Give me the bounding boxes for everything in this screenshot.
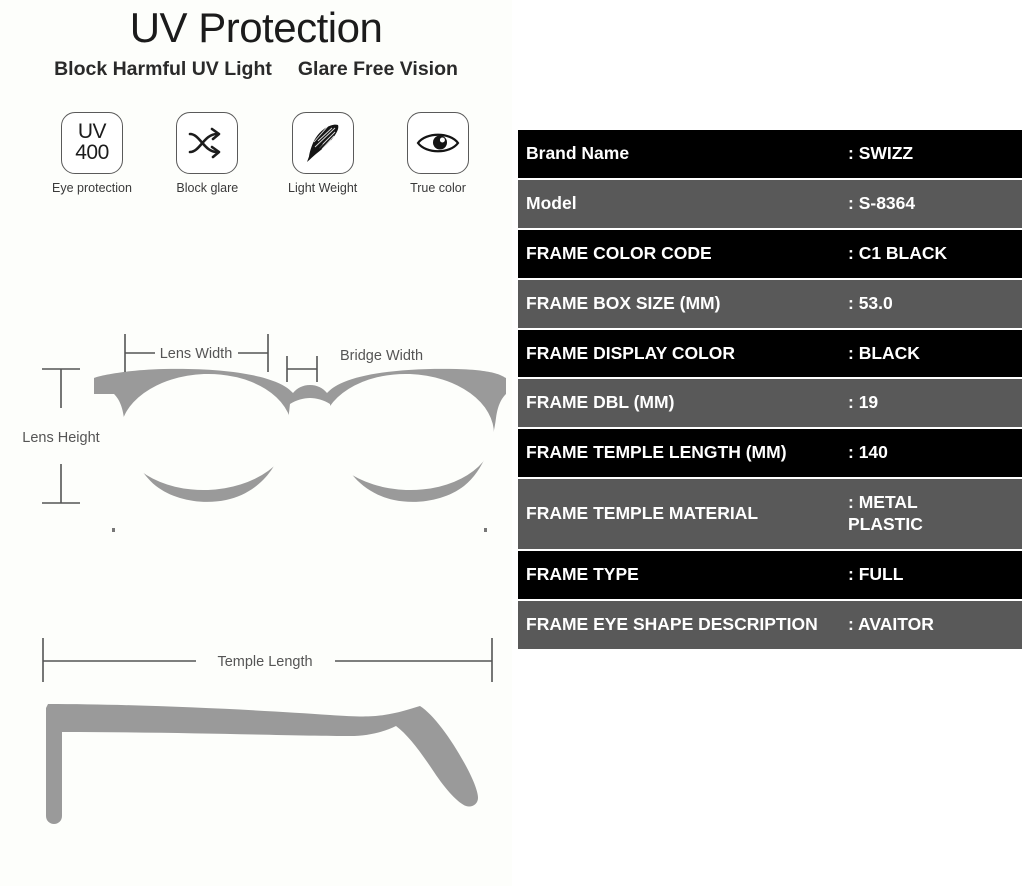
frame-tick-marks bbox=[112, 528, 487, 532]
spec-key: FRAME TEMPLE MATERIAL bbox=[518, 490, 848, 538]
spec-row: FRAME TYPE: FULL bbox=[518, 551, 1022, 601]
eye-icon bbox=[407, 112, 469, 174]
spec-value: : BLACK bbox=[848, 330, 1022, 378]
spec-row: FRAME TEMPLE MATERIAL: METAL PLASTIC bbox=[518, 479, 1022, 551]
spec-key: FRAME TYPE bbox=[518, 551, 848, 599]
feather-glyph bbox=[302, 121, 344, 165]
spec-row: Model: S-8364 bbox=[518, 180, 1022, 230]
lens-height-label: Lens Height bbox=[22, 430, 99, 446]
bridge-width-dimension bbox=[287, 356, 317, 382]
feature-caption-true-color: True color bbox=[410, 181, 466, 195]
feature-block-glare: Block glare bbox=[155, 112, 259, 195]
feature-eye-protection: UV 400 Eye protection bbox=[40, 112, 144, 195]
spec-key: FRAME DBL (MM) bbox=[518, 379, 848, 427]
feature-light-weight: Light Weight bbox=[271, 112, 375, 195]
spec-row: FRAME DISPLAY COLOR: BLACK bbox=[518, 330, 1022, 380]
temple-arm-shape bbox=[46, 704, 478, 824]
promo-panel: UV Protection Block Harmful UV Light Gla… bbox=[0, 0, 512, 886]
shuffle-arrows-icon bbox=[176, 112, 238, 174]
spec-row: Brand Name: SWIZZ bbox=[518, 130, 1022, 180]
spec-key: FRAME COLOR CODE bbox=[518, 230, 848, 278]
spec-key: FRAME DISPLAY COLOR bbox=[518, 330, 848, 378]
shuffle-arrows-glyph bbox=[186, 125, 228, 161]
spec-value: : 19 bbox=[848, 379, 1022, 427]
spec-value: : 140 bbox=[848, 429, 1022, 477]
spec-value: : 53.0 bbox=[848, 280, 1022, 328]
subtitle-row: Block Harmful UV Light Glare Free Vision bbox=[0, 58, 512, 81]
spec-row: FRAME EYE SHAPE DESCRIPTION: AVAITOR bbox=[518, 601, 1022, 651]
uv400-line1: UV bbox=[75, 122, 109, 143]
eyeglass-front-measurement-diagram: Lens Width Bridge Width Lens Height bbox=[0, 320, 512, 570]
feather-icon bbox=[292, 112, 354, 174]
spec-row: FRAME COLOR CODE: C1 BLACK bbox=[518, 230, 1022, 280]
spec-value: : SWIZZ bbox=[848, 130, 1022, 178]
eyeglass-temple-measurement-diagram: Temple Length bbox=[0, 620, 512, 850]
uv400-icon: UV 400 bbox=[61, 112, 123, 174]
feature-true-color: True color bbox=[386, 112, 490, 195]
eye-glyph bbox=[415, 128, 461, 158]
spec-value: : METAL PLASTIC bbox=[848, 479, 1022, 549]
spec-key: FRAME BOX SIZE (MM) bbox=[518, 280, 848, 328]
uv-protection-header: UV Protection Block Harmful UV Light Gla… bbox=[0, 0, 512, 81]
feature-icon-row: UV 400 Eye protection Block glare bbox=[40, 112, 490, 195]
spec-row: FRAME DBL (MM): 19 bbox=[518, 379, 1022, 429]
spec-value: : AVAITOR bbox=[848, 601, 1022, 649]
subtitle-glare-free: Glare Free Vision bbox=[298, 58, 458, 81]
feature-caption-eye-protection: Eye protection bbox=[52, 181, 132, 195]
spec-value: : S-8364 bbox=[848, 180, 1022, 228]
spec-key: FRAME EYE SHAPE DESCRIPTION bbox=[518, 601, 848, 649]
page-title: UV Protection bbox=[0, 4, 512, 52]
feature-caption-block-glare: Block glare bbox=[176, 181, 238, 195]
spec-key: Brand Name bbox=[518, 130, 848, 178]
spec-row: FRAME BOX SIZE (MM): 53.0 bbox=[518, 280, 1022, 330]
uv400-line2: 400 bbox=[75, 143, 109, 164]
spec-key: FRAME TEMPLE LENGTH (MM) bbox=[518, 429, 848, 477]
product-specification-table: Brand Name: SWIZZModel: S-8364FRAME COLO… bbox=[518, 130, 1022, 651]
subtitle-block-uv: Block Harmful UV Light bbox=[54, 58, 272, 81]
bridge-width-label: Bridge Width bbox=[340, 348, 423, 364]
feature-caption-light-weight: Light Weight bbox=[288, 181, 357, 195]
spec-value: : C1 BLACK bbox=[848, 230, 1022, 278]
spec-value: : FULL bbox=[848, 551, 1022, 599]
spec-row: FRAME TEMPLE LENGTH (MM): 140 bbox=[518, 429, 1022, 479]
lens-width-label: Lens Width bbox=[160, 346, 233, 362]
temple-length-label: Temple Length bbox=[217, 654, 312, 670]
spec-key: Model bbox=[518, 180, 848, 228]
